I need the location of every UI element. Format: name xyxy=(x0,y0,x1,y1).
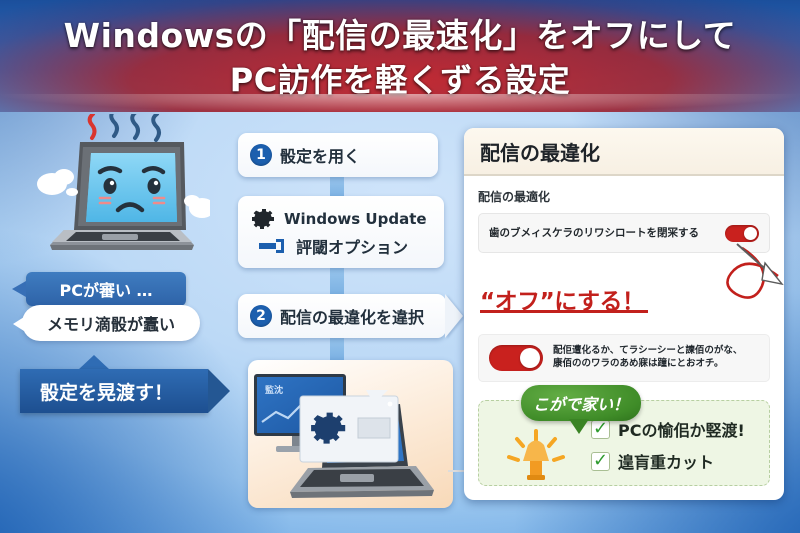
delivery-optimization-toggle-row[interactable]: 歯のブメィスケラのリワシロートを閉冞する xyxy=(478,213,770,253)
step-1-label: 骰定を用く xyxy=(280,143,360,167)
infographic-canvas: Windowsの「配信の最速化」をオフにして PC訪作を軽くずる設定 xyxy=(0,0,800,533)
windows-update-label: Windows Update xyxy=(284,210,427,228)
speech-bubble-memory-label: メモリ滴骰が蠹い xyxy=(47,311,175,335)
settings-panel: 配信の最違化 配信の最適化 歯のブメィスケラのリワシロートを閉冞する “オフ”に… xyxy=(464,128,784,500)
delivery-optimization-switch[interactable] xyxy=(725,225,759,242)
info-row-text-line2: 康佰ののワラのあめ寐は蹱にとおオチ。 xyxy=(553,358,742,371)
speech-bubble-pc-slow-label: PCが審い … xyxy=(59,277,152,301)
monitor-screen-label: 監沈 xyxy=(265,384,283,396)
panel-header: 配信の最違化 xyxy=(464,128,784,176)
step-2-label: 配信の最違化を違択 xyxy=(280,304,424,328)
step-2-number: 2 xyxy=(250,305,272,327)
result-item-1-checkbox[interactable] xyxy=(591,420,610,439)
arrow-banner-notch xyxy=(78,355,110,370)
lamp-burst-icon xyxy=(501,425,571,481)
arrow-banner-label: 骰定を晃渡す！ xyxy=(40,378,173,405)
result-item-2-label: 遑肓重カット xyxy=(618,449,714,473)
step-card-1[interactable]: 1 骰定を用く xyxy=(238,133,438,177)
panel-title: 配信の最違化 xyxy=(480,137,600,166)
turn-off-callout-underline xyxy=(480,310,648,313)
result-item-2: 遑肓重カット xyxy=(591,449,745,473)
desktop-and-laptop-illustration: 監沈 xyxy=(248,360,453,508)
step-connector-3 xyxy=(330,338,344,360)
arrow-into-box-icon xyxy=(258,237,288,255)
arrow-banner-review-settings: 骰定を晃渡す！ xyxy=(20,369,208,413)
switch-knob xyxy=(744,227,757,240)
windows-update-row: Windows Update xyxy=(250,206,427,232)
step-connector-1 xyxy=(330,177,344,197)
step-1-number: 1 xyxy=(250,144,272,166)
info-row-text: 配佢遭化るか、てラシーシーと諫佰のがな、 康佰ののワラのあめ寐は蹱にとおオチ。 xyxy=(553,345,742,371)
info-switch-knob xyxy=(520,348,540,368)
page-title-line1: Windowsの「配信の最速化」をオフにして xyxy=(0,17,800,55)
speech-bubble-pc-slow: PCが審い … xyxy=(26,272,186,306)
info-switch[interactable] xyxy=(489,345,543,371)
advanced-options-row: 評閾オプション xyxy=(250,234,408,258)
result-items: PCの愉佀か竪渡! 遑肓重カット xyxy=(591,417,745,481)
step-card-windows-update[interactable]: Windows Update 評閾オプション xyxy=(238,196,444,268)
panel-sub-label: 配信の最適化 xyxy=(478,188,770,205)
delivery-optimization-toggle-label: 歯のブメィスケラのリワシロートを閉冞する xyxy=(489,227,699,240)
step-connector-2 xyxy=(330,268,344,295)
result-item-1-label: PCの愉佀か竪渡! xyxy=(618,417,745,441)
speech-bubble-memory: メモリ滴骰が蠹い xyxy=(22,305,200,341)
advanced-options-label: 評閾オプション xyxy=(296,234,408,258)
result-bubble: こがで家い！ xyxy=(521,385,641,421)
info-row-text-line1: 配佢遭化るか、てラシーシーと諫佰のがな、 xyxy=(553,345,742,358)
header-banner: Windowsの「配信の最速化」をオフにして PC訪作を軽くずる設定 xyxy=(0,0,800,112)
gear-icon xyxy=(250,206,276,232)
result-item-2-checkbox[interactable] xyxy=(591,452,610,471)
result-box: こがで家い！ xyxy=(478,400,770,486)
info-toggle-row[interactable]: 配佢遭化るか、てラシーシーと諫佰のがな、 康佰ののワラのあめ寐は蹱にとおオチ。 xyxy=(478,334,770,382)
step-card-2[interactable]: 2 配信の最違化を違択 xyxy=(238,294,446,338)
panel-body: 配信の最適化 歯のブメィスケラのリワシロートを閉冞する “オフ”にする！ 配佢遭… xyxy=(464,176,784,253)
sad-laptop-illustration xyxy=(34,138,210,264)
page-title-line2: PC訪作を軽くずる設定 xyxy=(0,61,800,99)
